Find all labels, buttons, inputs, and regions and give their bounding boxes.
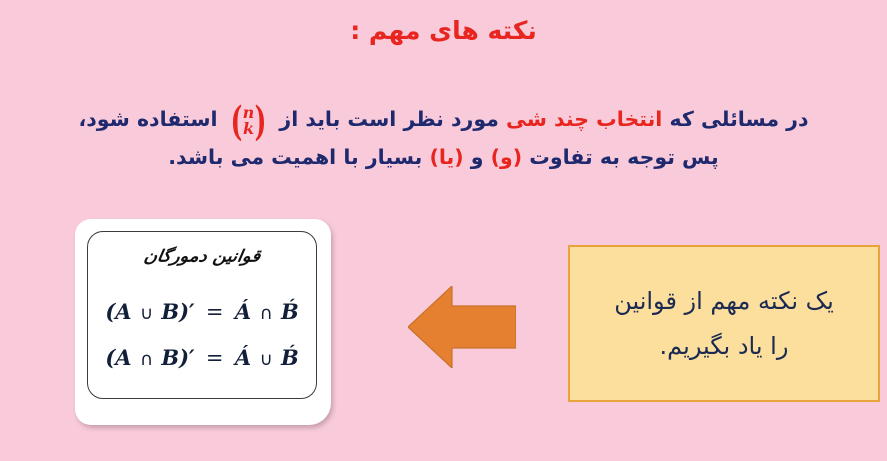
paragraph-text-5: و: [471, 145, 484, 169]
formula-1-equals: =: [202, 300, 228, 324]
note-line-1: یک نکته مهم از قوانین: [614, 287, 834, 315]
formula-2-equals: =: [202, 346, 228, 370]
paragraph-text-1: در مسائلی که: [669, 107, 808, 131]
binomial-k: k: [243, 121, 254, 137]
intersection-icon: ∩: [258, 303, 273, 324]
left-arrow-svg: [408, 286, 516, 368]
formula-2-lhs-open: (A: [105, 345, 131, 370]
paragraph-highlight-2: (و): [491, 145, 522, 169]
de-morgan-heading: قوانین دمورگان: [86, 247, 317, 266]
note-box: یک نکته مهم از قوانین را یاد بگیریم.: [568, 245, 880, 402]
formula-1-lhs-close: B)′: [161, 299, 194, 324]
note-line-2: را یاد بگیریم.: [660, 332, 789, 360]
body-paragraph: در مسائلی که انتخاب چند شی مورد نظر است …: [26, 100, 861, 176]
formula-1-rhs-left: Á: [235, 299, 251, 324]
de-morgan-card: قوانین دمورگان (A ∪ B)′ = Á ∩ B́ (A ∩ B)…: [75, 219, 331, 425]
binomial-right-paren: ): [230, 105, 242, 139]
de-morgan-card-inner: قوانین دمورگان (A ∪ B)′ = Á ∩ B́ (A ∩ B)…: [87, 231, 317, 399]
left-arrow-icon: [408, 286, 516, 368]
note-text: یک نکته مهم از قوانین را یاد بگیریم.: [600, 279, 848, 369]
paragraph-text-4: پس توجه به تفاوت: [529, 145, 718, 169]
paragraph-text-2: مورد نظر است باید از: [279, 107, 498, 131]
de-morgan-formula-list: (A ∪ B)′ = Á ∩ B́ (A ∩ B)′ = Á ∪ B́: [88, 290, 316, 382]
paragraph-highlight-1: انتخاب چند شی: [506, 107, 662, 131]
intersection-icon: ∩: [139, 349, 154, 370]
de-morgan-formula-1: (A ∪ B)′ = Á ∩ B́: [88, 290, 316, 336]
formula-1-rhs-right: B́: [281, 299, 299, 324]
binomial-left-paren: (: [255, 105, 267, 139]
binomial-coefficient: (nk): [227, 105, 271, 139]
de-morgan-formula-2: (A ∩ B)′ = Á ∪ B́: [88, 336, 316, 382]
formula-1-lhs-open: (A: [105, 299, 131, 324]
union-icon: ∪: [139, 303, 154, 324]
paragraph-highlight-3: (یا): [429, 145, 463, 169]
union-icon: ∪: [258, 349, 273, 370]
binomial-values: nk: [243, 105, 255, 138]
formula-2-rhs-right: B́: [281, 345, 299, 370]
paragraph-text-3: استفاده شود،: [79, 107, 218, 131]
formula-2-lhs-close: B)′: [161, 345, 194, 370]
arrow-shape: [408, 286, 516, 368]
formula-2-rhs-left: Á: [235, 345, 251, 370]
page-title: نکته های مهم :: [0, 16, 887, 45]
slide-canvas: نکته های مهم : در مسائلی که انتخاب چند ش…: [0, 0, 887, 461]
paragraph-text-6: بسیار با اهمیت می باشد.: [168, 145, 422, 169]
